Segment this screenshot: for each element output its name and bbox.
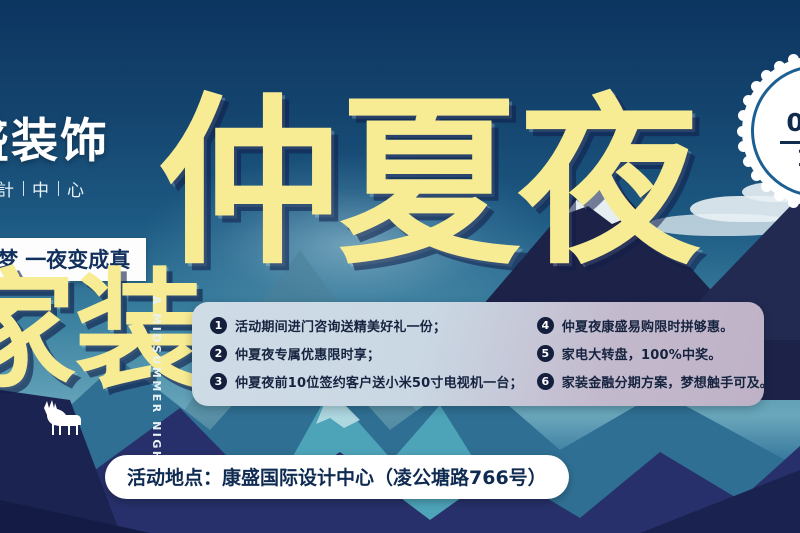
list-item: 1 活动期间进门咨询送精美好礼一份； [210, 316, 523, 335]
main-headline: 仲夏夜 [158, 96, 698, 271]
list-item: 2 仲夏夜专属优惠限时享； [210, 344, 523, 363]
brand-subtitle-char: 中 [32, 176, 50, 201]
date-seal-badge: 》 08/2 18: [742, 56, 800, 206]
bullet-number-icon: 2 [210, 345, 227, 362]
bullet-number-icon: 5 [537, 345, 554, 362]
divider [23, 181, 24, 196]
seal-date: 08/2 [786, 109, 800, 138]
bullet-number-icon: 3 [210, 373, 227, 390]
offers-panel: 1 活动期间进门咨询送精美好礼一份； 2 仲夏夜专属优惠限时享； 3 仲夏夜前1… [192, 302, 764, 406]
vertical-english-text: A MIDSUMMER NIGHT [150, 296, 163, 473]
offers-column-left: 1 活动期间进门咨询送精美好礼一份； 2 仲夏夜专属优惠限时享； 3 仲夏夜前1… [210, 316, 523, 391]
list-item: 5 家电大转盘，100%中奖。 [537, 344, 773, 363]
divider [58, 181, 59, 196]
brand-subtitle-char: 心 [67, 176, 85, 201]
offer-text: 活动期间进门咨询送精美好礼一份； [235, 316, 446, 335]
seal-time: 18: [796, 146, 800, 172]
list-item: 3 仲夏夜前10位签约客户送小米50寸电视机一台； [210, 372, 523, 391]
bullet-number-icon: 4 [537, 317, 554, 334]
bullet-number-icon: 1 [210, 317, 227, 334]
promo-poster: 盛装饰 設 計 中 心 装梦 一夜变成真 家装 仲夏夜 A MIDSUMMER … [0, 0, 800, 533]
list-item: 4 仲夏夜康盛易购限时拼够惠。 [537, 316, 773, 335]
list-item: 6 家装金融分期方案，梦想触手可及。 [537, 372, 773, 391]
offer-text: 家装金融分期方案，梦想触手可及。 [562, 372, 773, 391]
offer-text: 仲夏夜前10位签约客户送小米50寸电视机一台； [235, 372, 523, 391]
brand-subtitle-char: 計 [0, 176, 15, 201]
divider [780, 141, 800, 144]
offer-text: 家电大转盘，100%中奖。 [562, 344, 722, 363]
bullet-number-icon: 6 [537, 373, 554, 390]
offers-column-right: 4 仲夏夜康盛易购限时拼够惠。 5 家电大转盘，100%中奖。 6 家装金融分期… [537, 316, 773, 391]
offer-text: 仲夏夜康盛易购限时拼够惠。 [562, 316, 734, 335]
offer-text: 仲夏夜专属优惠限时享； [235, 344, 380, 363]
event-location: 活动地点：康盛国际设计中心（凌公塘路766号） [105, 455, 569, 499]
